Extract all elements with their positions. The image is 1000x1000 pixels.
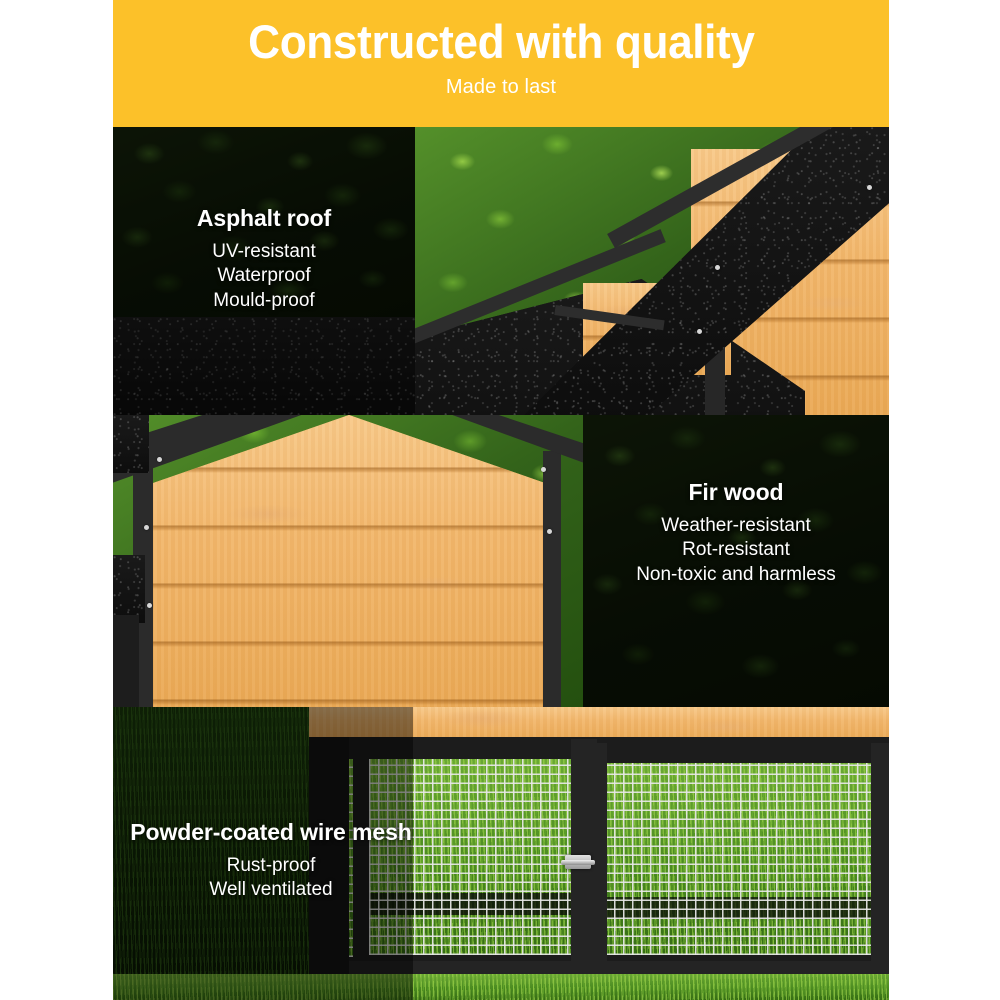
caption-bullet: Waterproof [113, 264, 415, 289]
lower-structure [113, 615, 139, 707]
page-subtitle: Made to last [446, 76, 556, 99]
screw-icon [867, 185, 872, 190]
feature-row-fir-wood: Fir wood Weather-resistant Rot-resistant… [113, 415, 889, 707]
feature-row-asphalt-roof: Asphalt roof UV-resistant Waterproof Mou… [113, 127, 889, 415]
corner-post-right [543, 451, 561, 707]
asphalt-roof-edge [113, 555, 145, 623]
caption-fir-wood: Fir wood Weather-resistant Rot-resistant… [583, 479, 889, 588]
caption-title: Fir wood [583, 479, 889, 507]
latch-bolt [561, 860, 595, 865]
caption-bullet: Rot-resistant [583, 538, 889, 563]
caption-title: Asphalt roof [113, 205, 415, 233]
caption-bullet: Mould-proof [113, 289, 415, 314]
feature-row-wire-mesh: Powder-coated wire mesh Rust-proof Well … [113, 707, 889, 1000]
screw-icon [157, 457, 162, 462]
caption-bullet: UV-resistant [113, 240, 415, 265]
caption-bullet: Non-toxic and harmless [583, 563, 889, 588]
screw-icon [715, 265, 720, 270]
asphalt-roof-product-photo [415, 127, 889, 415]
screw-icon [547, 529, 552, 534]
door-stile-right-outer [871, 743, 889, 981]
product-feature-page: Constructed with quality Made to last As… [0, 0, 1000, 1000]
caption-title: Powder-coated wire mesh [121, 819, 421, 847]
screw-icon [147, 603, 152, 608]
caption-bullet: Well ventilated [121, 878, 421, 903]
caption-bullet: Weather-resistant [583, 514, 889, 539]
caption-asphalt-roof: Asphalt roof UV-resistant Waterproof Mou… [113, 205, 415, 314]
asphalt-roof-edge [113, 415, 149, 473]
caption-bullet: Rust-proof [121, 854, 421, 879]
page-title: Constructed with quality [248, 18, 754, 65]
content-column: Constructed with quality Made to last As… [113, 0, 889, 1000]
caption-wire-mesh: Powder-coated wire mesh Rust-proof Well … [121, 819, 421, 903]
door-stile-right-inner [597, 743, 607, 981]
screw-icon [541, 467, 546, 472]
screw-icon [697, 329, 702, 334]
wire-mesh-panel [605, 763, 871, 955]
screw-icon [144, 525, 149, 530]
header-banner: Constructed with quality Made to last [113, 0, 889, 127]
fir-wood-product-photo [113, 415, 583, 707]
